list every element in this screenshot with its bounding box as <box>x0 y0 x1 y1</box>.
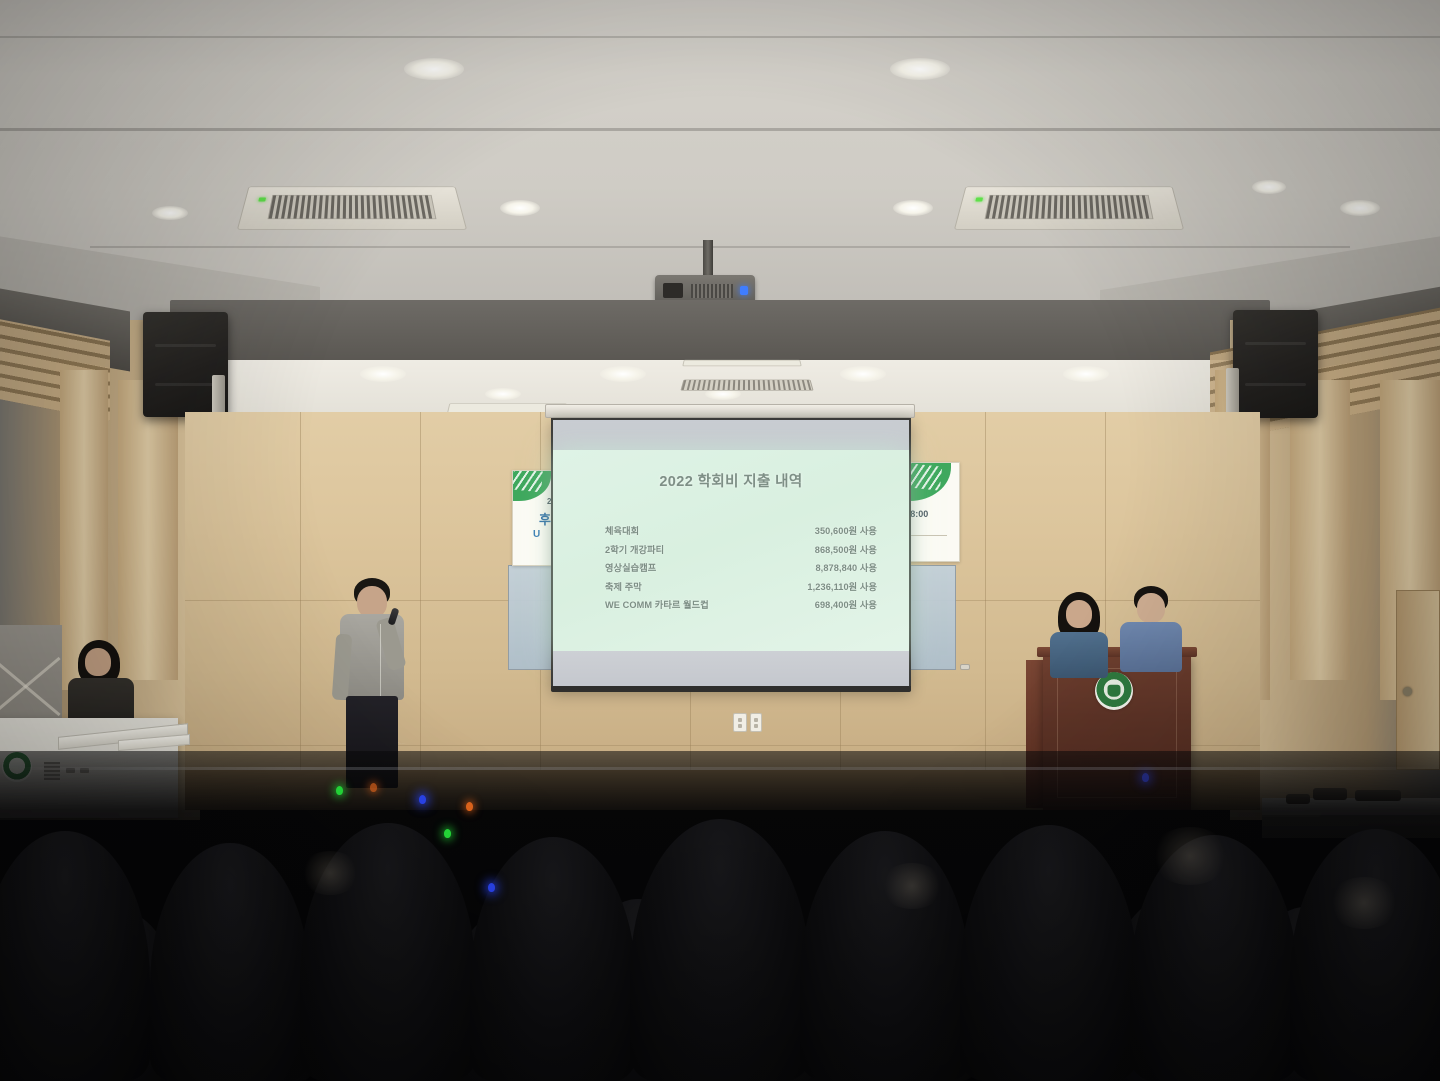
projector-vent-icon <box>691 284 733 298</box>
audience-silhouette <box>470 837 636 1081</box>
wall-pillar <box>118 380 178 680</box>
green-led <box>444 829 451 838</box>
stage-downlight <box>485 388 521 400</box>
podium-speaker-left <box>1046 592 1110 672</box>
speaker-right-head <box>1137 593 1165 623</box>
screen-valance <box>545 404 915 418</box>
wall-outlet[interactable] <box>733 713 747 732</box>
expense-label: 체육대회 <box>605 523 639 537</box>
aisle-light-strip <box>0 767 1440 770</box>
ceiling-ac-left <box>237 187 467 230</box>
expense-amount: 698,400원 사용 <box>815 597 877 611</box>
stage-vent-panel <box>682 360 802 366</box>
slide-row: 축제 주막 1,236,110원 사용 <box>605 579 877 593</box>
podium-speaker-right <box>1120 586 1184 670</box>
wall-glass-panel-left <box>508 565 554 670</box>
projector-power-led <box>740 286 748 295</box>
auditorium-scene: 20 후 U 0~18:00 2022 학회비 지출 내역 체육대회 350,6… <box>0 0 1440 1081</box>
poster-left-line3: U <box>533 529 540 540</box>
expense-label: 영상실습캠프 <box>605 560 656 574</box>
ceiling-downlight <box>1340 200 1380 216</box>
audience-silhouette <box>960 825 1138 1081</box>
audience-silhouette <box>0 831 150 1081</box>
ac-grille-icon <box>267 195 436 219</box>
poster-left-line2: 후 <box>539 509 551 528</box>
projected-image-area: 2022 학회비 지출 내역 체육대회 350,600원 사용 2학기 개강파티… <box>553 450 909 655</box>
wall-panel-seam <box>985 412 986 770</box>
ceiling-ac-right <box>954 187 1184 230</box>
expense-amount: 8,878,840 사용 <box>815 560 877 574</box>
ceiling-downlight <box>893 200 933 216</box>
wall-glass-panel-right <box>908 565 956 670</box>
audience-silhouette <box>630 819 810 1081</box>
audience-silhouette <box>1290 829 1440 1081</box>
ac-led-indicator <box>258 197 266 201</box>
ceiling-downlight <box>890 58 950 80</box>
door-knob-icon[interactable] <box>1403 687 1412 696</box>
projection-screen[interactable]: 2022 학회비 지출 내역 체육대회 350,600원 사용 2학기 개강파티… <box>551 418 911 690</box>
stage-linear-vent <box>680 380 813 391</box>
audience-head-highlight <box>300 851 360 895</box>
ceiling-downlight <box>152 206 188 220</box>
audience-silhouette <box>150 843 310 1081</box>
screen-pull-tab[interactable] <box>960 664 970 670</box>
blue-led <box>419 795 426 804</box>
ceiling-seam <box>90 246 1350 248</box>
ac-led-indicator <box>975 197 983 201</box>
slide-expense-list: 체육대회 350,600원 사용 2학기 개강파티 868,500원 사용 영상… <box>569 523 893 611</box>
ceiling-seam <box>0 36 1440 38</box>
slide-row: WE COMM 카타르 월드컵 698,400원 사용 <box>605 597 877 611</box>
blue-led <box>488 883 495 892</box>
emblem-core-icon <box>1108 685 1121 697</box>
green-led <box>336 786 343 795</box>
right-pa-speaker <box>1233 310 1318 418</box>
side-door-right[interactable] <box>1396 590 1440 770</box>
blue-led <box>1142 773 1149 782</box>
screen-blank-area <box>553 651 909 688</box>
poster-divider <box>909 535 947 536</box>
expense-label: 2학기 개강파티 <box>605 542 664 556</box>
audience-head-highlight <box>880 863 944 909</box>
slide-row: 체육대회 350,600원 사용 <box>605 523 877 537</box>
speaker-left-head <box>1066 600 1092 628</box>
audience-area <box>0 751 1440 1081</box>
stage-downlight <box>600 366 646 382</box>
wall-panel-seam <box>420 412 421 770</box>
stage-downlight <box>1063 366 1109 382</box>
speaker-right-torso <box>1120 622 1182 672</box>
expense-amount: 350,600원 사용 <box>815 523 877 537</box>
expense-amount: 868,500원 사용 <box>815 542 877 556</box>
right-speaker-bracket <box>1226 368 1239 414</box>
audience-head-highlight <box>1150 827 1230 885</box>
ceiling-downlight <box>404 58 464 80</box>
stage-downlight <box>360 366 406 382</box>
ceiling-seam <box>0 128 1440 131</box>
expense-label: WE COMM 카타르 월드컵 <box>605 597 709 611</box>
audience-silhouette <box>800 831 970 1081</box>
expense-label: 축제 주막 <box>605 579 642 593</box>
wall-pillar <box>1290 380 1350 680</box>
audience-head-highlight <box>1328 877 1400 929</box>
speaker-left-torso <box>1050 632 1108 678</box>
projector-lens-icon <box>663 283 683 298</box>
expense-amount: 1,236,110원 사용 <box>807 579 877 593</box>
screen-bottom-bar <box>551 686 911 692</box>
orange-led <box>466 802 473 811</box>
wall-light-switch[interactable] <box>750 713 762 732</box>
leaf-graphic-icon <box>512 470 551 501</box>
wall-panel-seam <box>300 412 301 770</box>
slide-title: 2022 학회비 지출 내역 <box>569 470 893 491</box>
slide-content: 2022 학회비 지출 내역 체육대회 350,600원 사용 2학기 개강파티… <box>553 450 909 655</box>
operator-head <box>85 648 111 676</box>
stage-downlight <box>840 366 886 382</box>
orange-led <box>370 783 377 792</box>
slide-row: 영상실습캠프 8,878,840 사용 <box>605 560 877 574</box>
ac-grille-icon <box>984 195 1153 219</box>
slide-row: 2학기 개강파티 868,500원 사용 <box>605 542 877 556</box>
ceiling-downlight <box>1252 180 1286 194</box>
